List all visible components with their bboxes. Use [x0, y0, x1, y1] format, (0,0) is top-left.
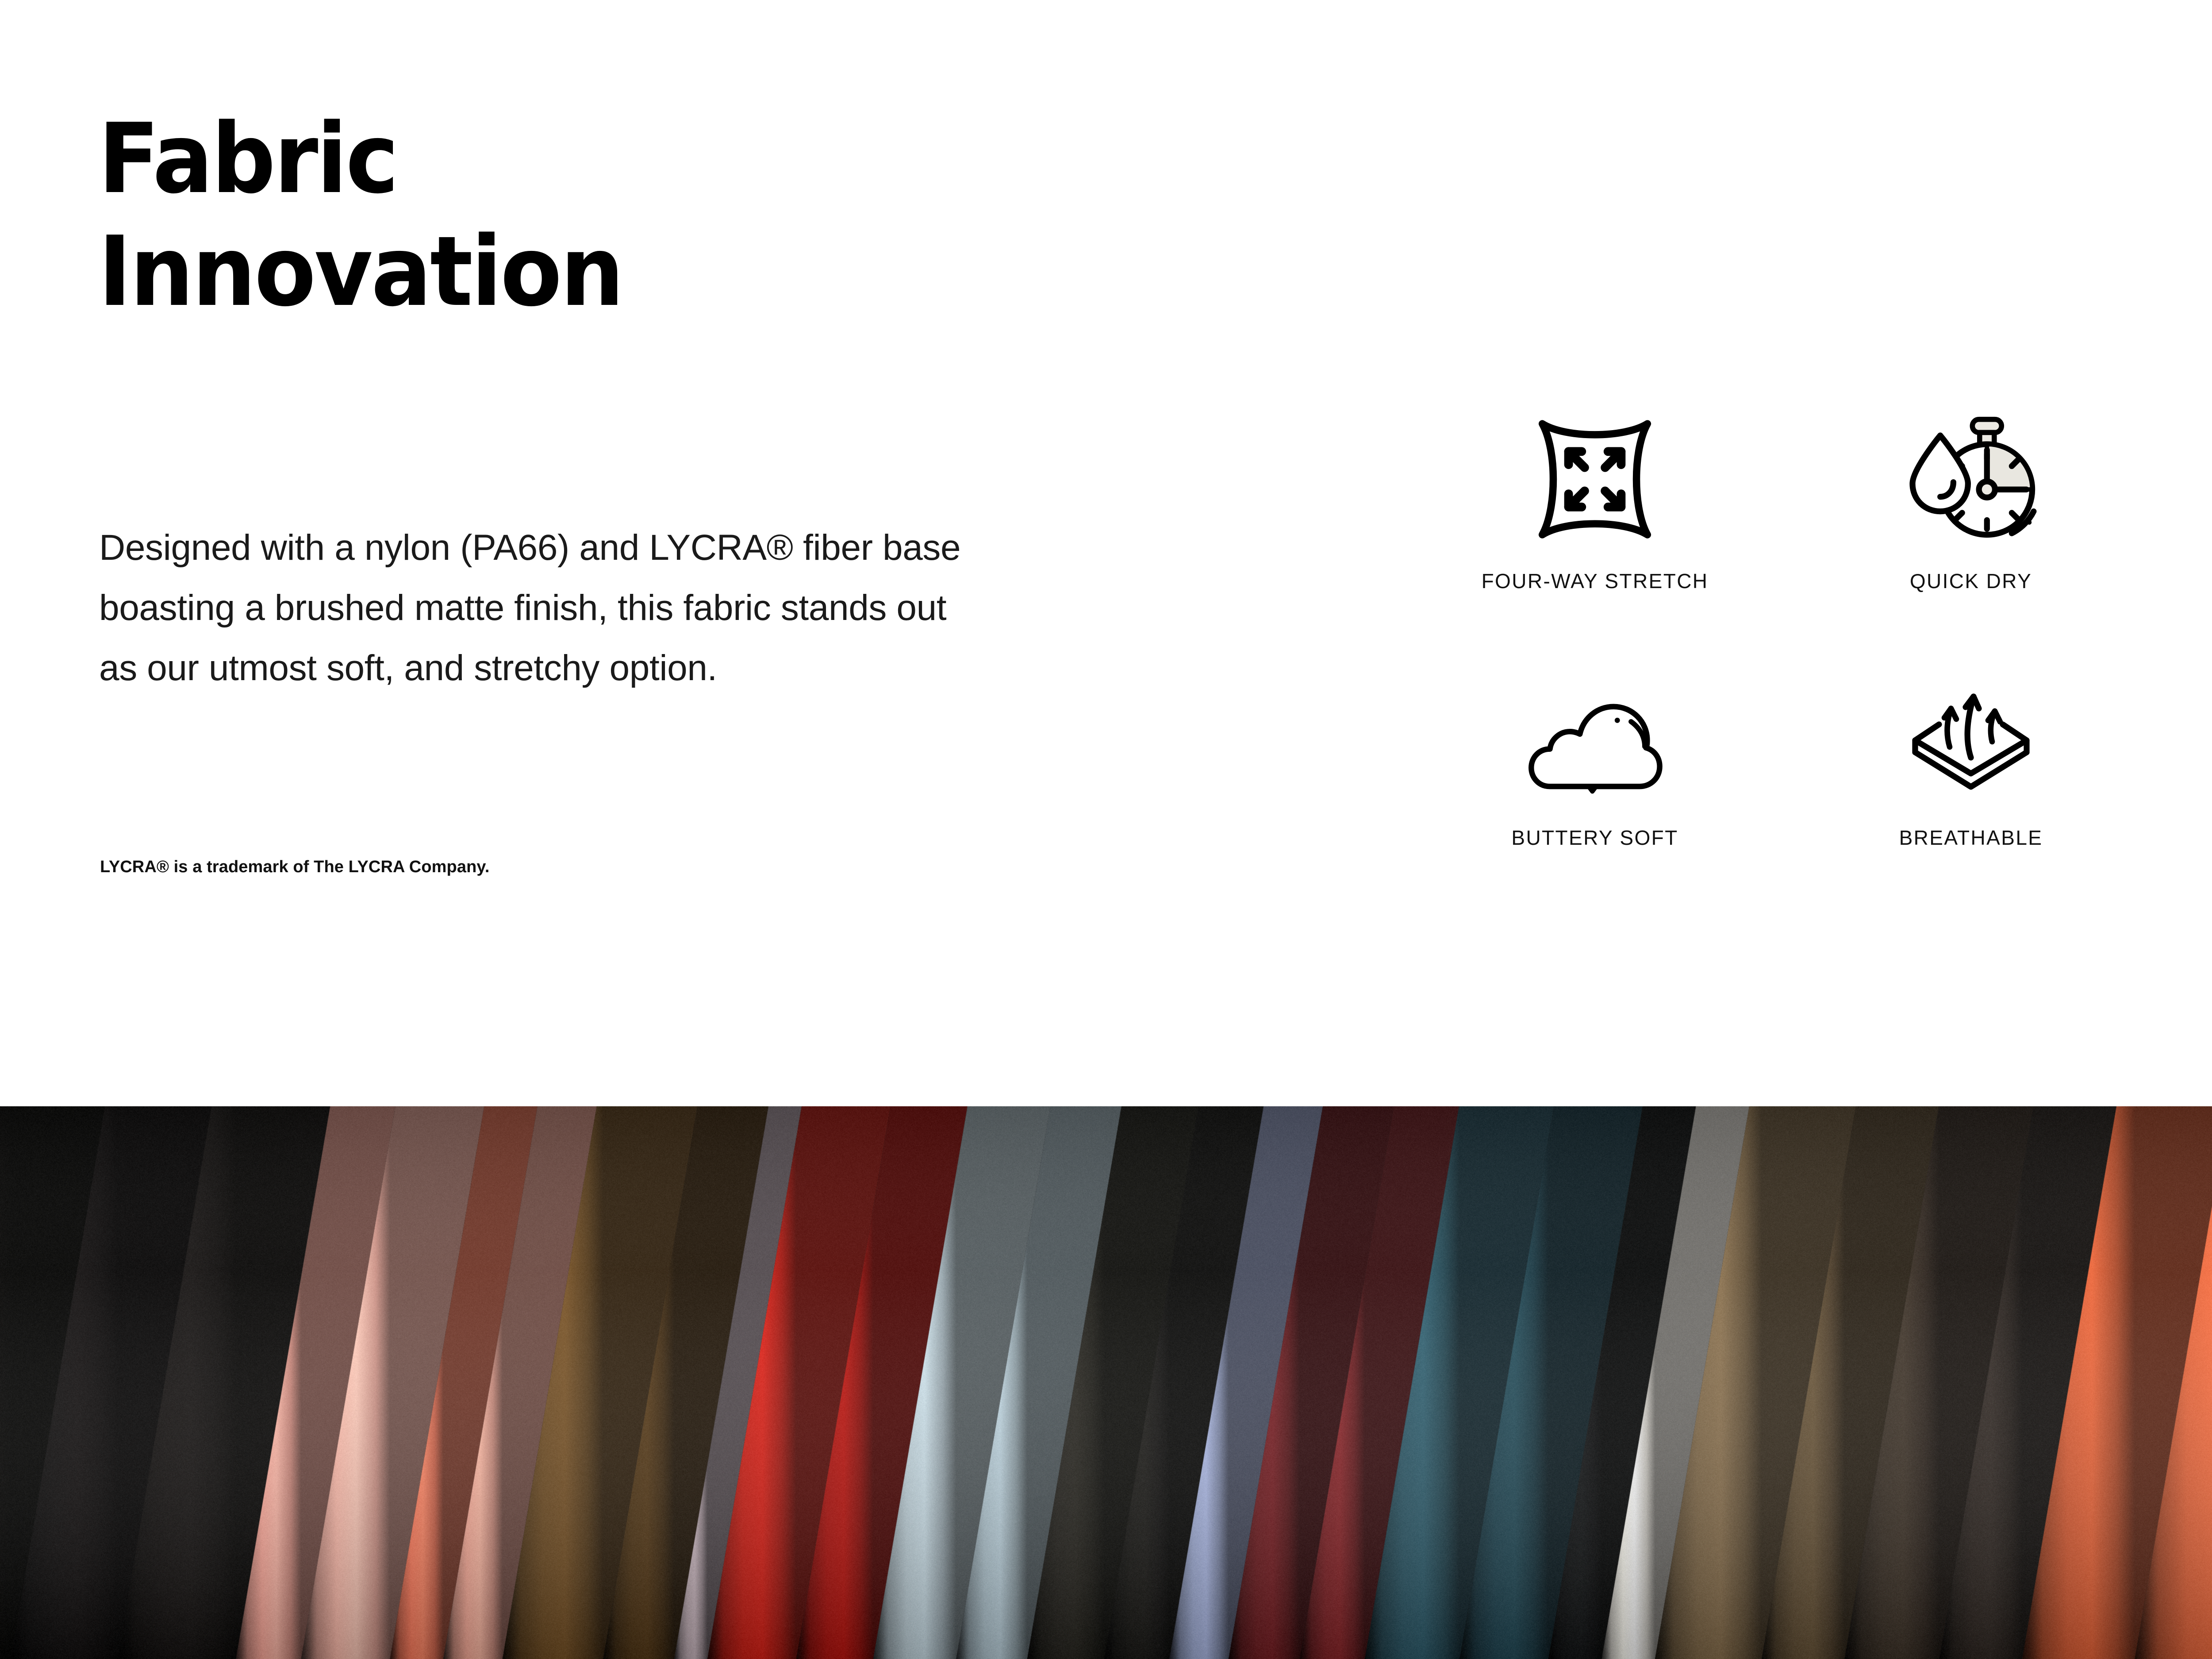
feature-label: FOUR-WAY STRETCH [1482, 569, 1709, 593]
feature-buttery-soft: BUTTERY SOFT [1407, 593, 1783, 850]
feature-label: QUICK DRY [1910, 569, 2032, 593]
feature-quick-dry: QUICK DRY [1783, 336, 2159, 593]
body-line-3: as our utmost soft, and stretchy option. [99, 638, 1320, 698]
fabric-photo [0, 1062, 2212, 1659]
feature-label: BREATHABLE [1899, 826, 2043, 850]
breathable-layers-icon [1898, 665, 2044, 797]
body-line-1: Designed with a nylon (PA66) and LYCRA® … [99, 518, 1320, 578]
feature-grid: FOUR-WAY STRETCH [1407, 336, 2159, 850]
content-panel: Fabric Innovation Designed with a nylon … [0, 0, 2212, 1106]
page-title: Fabric Innovation [98, 103, 1086, 328]
fabric-swatch-image [0, 1062, 2212, 1659]
feature-breathable: BREATHABLE [1783, 593, 2159, 850]
feature-four-way-stretch: FOUR-WAY STRETCH [1407, 336, 1783, 593]
cloud-icon [1522, 674, 1668, 797]
page-title-line-2: Innovation [98, 216, 1086, 328]
page-title-line-1: Fabric [98, 103, 1086, 216]
quick-dry-icon [1898, 406, 2044, 552]
feature-label: BUTTERY SOFT [1511, 826, 1678, 850]
body-paragraph: Designed with a nylon (PA66) and LYCRA® … [99, 518, 1320, 698]
four-way-stretch-icon [1522, 406, 1668, 552]
trademark-footnote: LYCRA® is a trademark of The LYCRA Compa… [100, 858, 489, 877]
body-line-2: boasting a brushed matte finish, this fa… [99, 578, 1320, 638]
